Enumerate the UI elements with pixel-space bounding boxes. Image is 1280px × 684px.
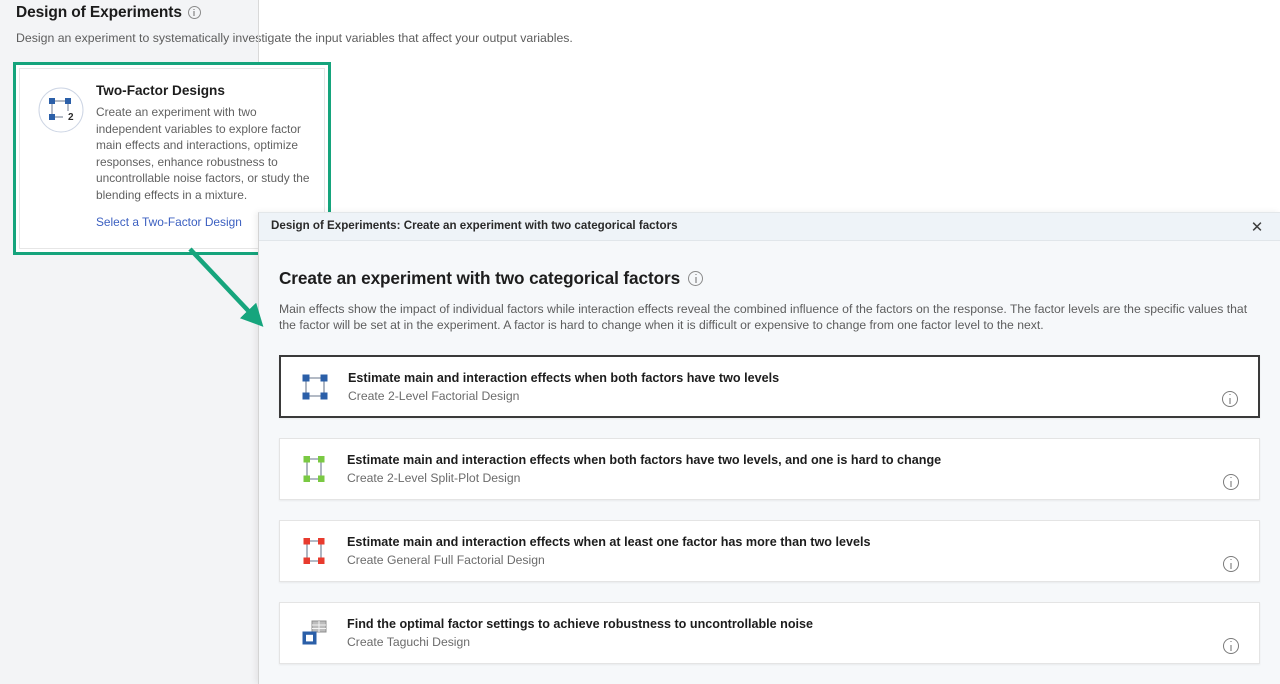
- option-info-button[interactable]: [1222, 391, 1238, 407]
- option-title: Estimate main and interaction effects wh…: [347, 535, 1223, 549]
- card-description: Create an experiment with two independen…: [96, 104, 310, 203]
- info-icon[interactable]: [1223, 474, 1239, 490]
- option-texts: Estimate main and interaction effects wh…: [347, 453, 1223, 485]
- option-texts: Estimate main and interaction effects wh…: [348, 371, 1222, 403]
- page-title-info-icon[interactable]: [188, 6, 201, 19]
- page-header: Design of Experiments Design an experime…: [16, 4, 916, 45]
- option-subtitle: Create Taguchi Design: [347, 635, 1223, 649]
- option-row-general-full-factorial[interactable]: Estimate main and interaction effects wh…: [279, 520, 1260, 582]
- option-title: Estimate main and interaction effects wh…: [347, 453, 1223, 467]
- svg-text:2: 2: [68, 112, 74, 123]
- option-info-button[interactable]: [1223, 556, 1239, 572]
- square-corners-red-icon: [297, 534, 331, 568]
- info-icon[interactable]: [1223, 638, 1239, 654]
- card-title: Two-Factor Designs: [96, 83, 310, 98]
- dialog-heading-row: Create an experiment with two categorica…: [279, 268, 1260, 289]
- dialog-titlebar: Design of Experiments: Create an experim…: [259, 213, 1280, 241]
- option-subtitle: Create 2-Level Split-Plot Design: [347, 471, 1223, 485]
- close-icon[interactable]: ✕: [1240, 213, 1274, 240]
- option-subtitle: Create 2-Level Factorial Design: [348, 389, 1222, 403]
- square-corners-blue-icon: [298, 370, 332, 404]
- option-info-button[interactable]: [1223, 474, 1239, 490]
- info-icon[interactable]: [1223, 556, 1239, 572]
- dialog-titlebar-text: Design of Experiments: Create an experim…: [271, 219, 678, 232]
- dialog-heading-info-icon[interactable]: [688, 271, 703, 286]
- card-body: 2 Two-Factor Designs Create an experimen…: [32, 81, 310, 229]
- card-text: Two-Factor Designs Create an experiment …: [96, 81, 310, 229]
- option-texts: Estimate main and interaction effects wh…: [347, 535, 1223, 567]
- app-root: Design of Experiments Design an experime…: [0, 0, 1280, 684]
- option-title: Find the optimal factor settings to achi…: [347, 617, 1223, 631]
- option-title: Estimate main and interaction effects wh…: [348, 371, 1222, 385]
- page-title: Design of Experiments: [16, 4, 182, 22]
- dialog-heading: Create an experiment with two categorica…: [279, 268, 680, 288]
- create-experiment-dialog: Design of Experiments: Create an experim…: [258, 212, 1280, 684]
- option-row-2-level-factorial[interactable]: Estimate main and interaction effects wh…: [279, 355, 1260, 418]
- design-option-list: Estimate main and interaction effects wh…: [279, 355, 1260, 664]
- option-info-button[interactable]: [1223, 638, 1239, 654]
- option-row-2-level-split-plot[interactable]: Estimate main and interaction effects wh…: [279, 438, 1260, 500]
- info-icon[interactable]: [1222, 391, 1238, 407]
- option-row-taguchi[interactable]: Find the optimal factor settings to achi…: [279, 602, 1260, 664]
- two-factor-square-icon: 2: [38, 87, 84, 133]
- option-subtitle: Create General Full Factorial Design: [347, 553, 1223, 567]
- option-texts: Find the optimal factor settings to achi…: [347, 617, 1223, 649]
- taguchi-grid-icon: [297, 616, 331, 650]
- page-subtitle: Design an experiment to systematically i…: [16, 31, 916, 45]
- square-corners-green-icon: [297, 452, 331, 486]
- dialog-description: Main effects show the impact of individu…: [279, 301, 1265, 333]
- dialog-content: Create an experiment with two categorica…: [259, 241, 1280, 664]
